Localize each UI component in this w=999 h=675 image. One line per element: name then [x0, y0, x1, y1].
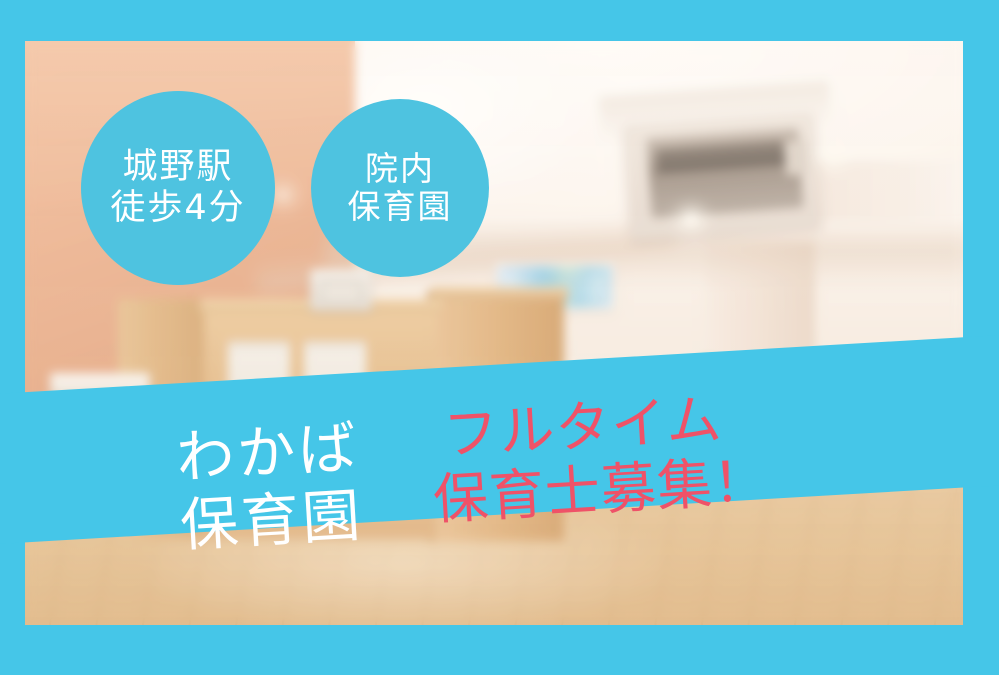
- recruitment-poster: わかば 保育園 フルタイム 保育士募集！ 城野駅 徒歩4分 院内 保育園: [0, 0, 999, 675]
- badge-in-hospital-nursery: 院内 保育園: [311, 99, 489, 277]
- badge-station-access: 城野駅 徒歩4分: [81, 91, 275, 285]
- air-conditioner-control: [784, 140, 808, 175]
- badge-inhouse-line-1: 院内: [365, 150, 435, 188]
- downlight-icon: [825, 151, 841, 163]
- badge-station-line-2: 徒歩4分: [110, 188, 245, 229]
- cabinet-top-right: [432, 287, 568, 299]
- downlight-icon: [683, 213, 699, 225]
- cabinet-top-box-face: [321, 281, 361, 303]
- downlight-icon: [275, 189, 291, 201]
- badge-inhouse-line-2: 保育園: [348, 188, 453, 226]
- badge-station-line-1: 城野駅: [122, 147, 233, 188]
